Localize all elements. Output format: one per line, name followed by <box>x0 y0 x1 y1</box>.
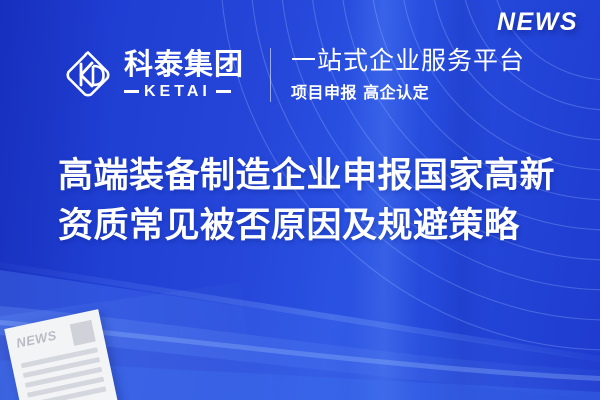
slogan-block: 一站式企业服务平台 项目申报 高企认定 <box>291 47 525 104</box>
news-tag: NEWS <box>497 8 578 37</box>
logo-name-cn: 科泰集团 <box>124 49 244 79</box>
logo-name-en: KETAI <box>144 83 211 101</box>
ketai-diamond-kd-monogram-icon <box>62 49 114 101</box>
newspaper-image-placeholder <box>70 320 96 346</box>
header-divider <box>270 48 271 102</box>
brand-header: 科泰集团 KETAI 一站式企业服务平台 项目申报 高企认定 <box>62 42 525 108</box>
page-title: 高端装备制造企业申报国家高新资质常见被否原因及规避策略 <box>58 152 558 251</box>
slogan-sub: 项目申报 高企认定 <box>291 79 525 103</box>
logo-dash-left <box>124 90 139 93</box>
slogan-main: 一站式企业服务平台 <box>291 47 525 76</box>
logo-dash-right <box>216 90 231 93</box>
news-banner: NEWS 科泰集团 KETAI <box>0 0 600 400</box>
newspaper-text-lines <box>21 347 107 400</box>
logo-wordmark: 科泰集团 KETAI <box>124 49 244 100</box>
newspaper-headline: NEWS <box>15 328 58 351</box>
logo-name-en-row: KETAI <box>124 83 244 101</box>
